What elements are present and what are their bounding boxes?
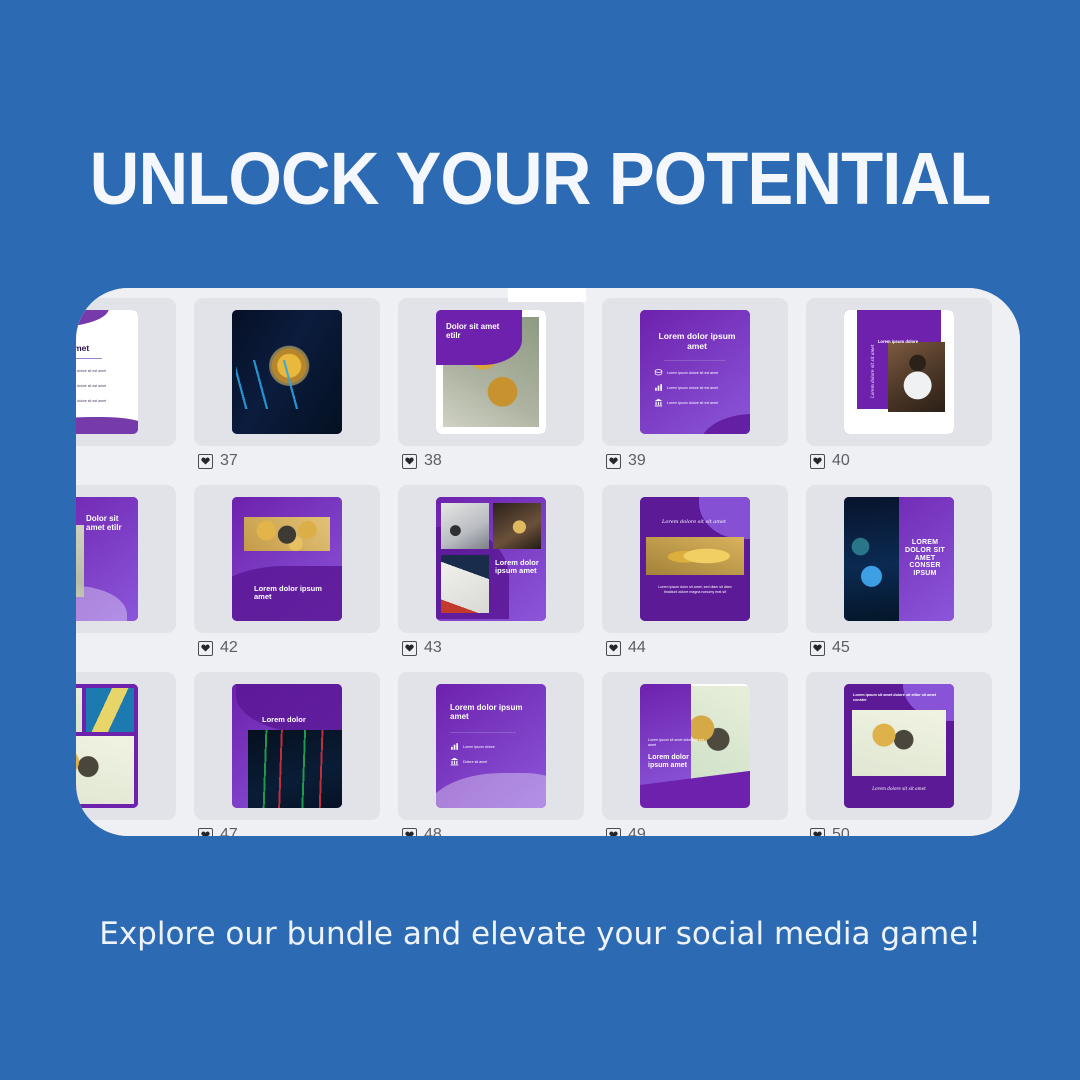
- template-grid: Ipsum amet Lorem ipsum dolore sit est am…: [76, 288, 1020, 836]
- thumb-title: Lorem dolor ipsum amet: [648, 754, 710, 770]
- thumbnail-tile[interactable]: Lorem dolor: [194, 672, 380, 820]
- thumb-title: Lorem dolor: [262, 716, 334, 724]
- design-thumbnail: [76, 684, 138, 808]
- item-number: 43: [424, 639, 442, 657]
- grid-item[interactable]: Lorem dolor 47: [194, 672, 380, 836]
- bullet-text: Lorem ipsum dolore: [463, 745, 495, 749]
- item-number: 39: [628, 452, 646, 470]
- bar-chart-icon: [450, 742, 459, 751]
- bullet-text: Dolore sit amet: [463, 760, 487, 764]
- item-meta: 50: [810, 826, 850, 836]
- item-meta: 48: [402, 826, 442, 836]
- favorite-button[interactable]: [606, 454, 621, 469]
- thumb-photo: [844, 497, 899, 621]
- heart-icon: [609, 831, 618, 836]
- thumb-photo: [441, 555, 489, 613]
- bar-chart-icon: [654, 383, 663, 392]
- favorite-button[interactable]: [606, 641, 621, 656]
- item-meta: 42: [198, 639, 238, 657]
- design-thumbnail: Lorem dolore sit sit amet Lorem ipsum do…: [640, 497, 750, 621]
- item-meta: 43: [402, 639, 442, 657]
- grid-item[interactable]: Ipsum amet Lorem ipsum dolore sit est am…: [76, 298, 176, 485]
- heart-icon: [201, 644, 210, 652]
- thumb-photo: [244, 517, 330, 551]
- item-meta: 44: [606, 639, 646, 657]
- favorite-button[interactable]: [198, 828, 213, 837]
- panel-tab[interactable]: [508, 288, 586, 302]
- heart-icon: [405, 457, 414, 465]
- design-thumbnail: Lorem dolor: [232, 684, 342, 808]
- favorite-button[interactable]: [402, 454, 417, 469]
- bullet-item: Lorem ipsum dolore sit est amet: [76, 366, 106, 375]
- design-thumbnail: Lorem dolor ipsum amet: [232, 497, 342, 621]
- thumbnail-tile[interactable]: Dolor sit amet etilr: [76, 485, 176, 633]
- thumb-title: Lorem dolor ipsum amet: [254, 585, 328, 602]
- thumb-title: LOREM DOLOR SIT AMET CONSER IPSUM: [900, 539, 950, 578]
- item-number: 42: [220, 639, 238, 657]
- item-number: 45: [832, 639, 850, 657]
- thumbnail-tile[interactable]: Lorem dolor ipsum amet: [398, 485, 584, 633]
- grid-item[interactable]: Lorem dolor ipsum amet Lorem ipsum dolor…: [398, 672, 584, 836]
- heart-icon: [201, 831, 210, 836]
- grid-item[interactable]: Lorem ipsum sit amet dolore sit est amet…: [602, 672, 788, 836]
- design-thumbnail: Lorem ipsum sit amet dolore sit etilor s…: [844, 684, 954, 808]
- favorite-button[interactable]: [402, 641, 417, 656]
- thumb-title: Dolor sit amet etilr: [86, 515, 134, 533]
- item-meta: 47: [198, 826, 238, 836]
- bullet-text: Lorem ipsum dolore sit est amet: [76, 369, 106, 373]
- item-number: 48: [424, 826, 442, 836]
- thumb-title: Lorem dolore sit sit amet: [658, 519, 730, 525]
- bullet-text: Lorem ipsum dolore sit est amet: [667, 386, 718, 390]
- grid-row: Dolor sit amet etilr 41: [76, 485, 1020, 672]
- coins-icon: [654, 368, 663, 377]
- heart-icon: [813, 644, 822, 652]
- grid-row: Ipsum amet Lorem ipsum dolore sit est am…: [76, 298, 1020, 485]
- thumbnail-tile[interactable]: Ipsum amet Lorem ipsum dolore sit est am…: [76, 298, 176, 446]
- thumb-title: Lorem ipsum sit amet dolore sit etilor s…: [853, 693, 937, 703]
- favorite-button[interactable]: [810, 641, 825, 656]
- grid-item[interactable]: Lorem dolore sit sit amet Lorem ipsum do…: [602, 485, 788, 672]
- thumbnail-tile[interactable]: [76, 672, 176, 820]
- thumbnail-tile[interactable]: Lorem dolor ipsum amet Lorem ipsum dolor…: [602, 298, 788, 446]
- thumb-title: Ipsum amet: [76, 344, 126, 354]
- grid-item[interactable]: 46: [76, 672, 176, 836]
- thumbnail-tile[interactable]: Lorem ipsum sit amet dolore sit est amet…: [602, 672, 788, 820]
- favorite-button[interactable]: [810, 454, 825, 469]
- bank-icon: [654, 398, 663, 407]
- bullet-item: Lorem ipsum dolore sit est amet: [76, 381, 106, 390]
- item-number: 38: [424, 452, 442, 470]
- thumb-photo: [232, 310, 342, 434]
- heart-icon: [405, 831, 414, 836]
- item-meta: 38: [402, 452, 442, 470]
- grid-item[interactable]: Dolor sit amet etilr 38: [398, 298, 584, 485]
- thumbnail-tile[interactable]: Lorem dolore sit sit amet Lorem ipsum do…: [602, 485, 788, 633]
- favorite-button[interactable]: [402, 828, 417, 837]
- bullet-item: Lorem ipsum dolore sit est amet: [654, 368, 718, 377]
- design-thumbnail: Lorem dolor ipsum amet Lorem ipsum dolor…: [640, 310, 750, 434]
- browser-panel: Ipsum amet Lorem ipsum dolore sit est am…: [76, 288, 1020, 836]
- thumb-photo: [493, 503, 541, 549]
- heart-icon: [609, 457, 618, 465]
- bullet-text: Lorem ipsum dolore sit est amet: [76, 384, 106, 388]
- heart-icon: [405, 644, 414, 652]
- bullet-item: Lorem ipsum dolore: [450, 742, 495, 751]
- thumbnail-tile[interactable]: Lorem ipsum dolore Lorem dolore sit sit …: [806, 298, 992, 446]
- thumbnail-tile[interactable]: LOREM DOLOR SIT AMET CONSER IPSUM: [806, 485, 992, 633]
- bullet-item: Lorem ipsum dolore sit est amet: [76, 396, 106, 405]
- design-thumbnail: Dolor sit amet etilr: [76, 497, 138, 621]
- thumb-title: Lorem dolor ipsum amet: [450, 704, 530, 722]
- thumb-title: Dolor sit amet etilr: [446, 323, 508, 341]
- thumb-title: Lorem dolor ipsum amet: [658, 332, 736, 351]
- page-title: UNLOCK YOUR POTENTIAL: [38, 136, 1042, 221]
- thumb-photo: [888, 342, 945, 411]
- item-meta: 37: [198, 452, 238, 470]
- heart-icon: [201, 457, 210, 465]
- bullet-text: Lorem ipsum dolore sit est amet: [76, 399, 106, 403]
- thumb-photo: [441, 503, 489, 549]
- thumb-photo: [76, 688, 82, 732]
- favorite-button[interactable]: [810, 828, 825, 837]
- thumb-photo: [646, 537, 744, 575]
- bullet-item: Lorem ipsum dolore sit est amet: [654, 398, 718, 407]
- grid-item[interactable]: 37: [194, 298, 380, 485]
- design-thumbnail: Dolor sit amet etilr: [436, 310, 546, 434]
- item-number: 50: [832, 826, 850, 836]
- thumb-photo: [86, 688, 134, 732]
- item-number: 40: [832, 452, 850, 470]
- thumb-photo: [248, 730, 342, 808]
- item-number: 47: [220, 826, 238, 836]
- thumb-vertical-text: Lorem dolore sit sit amet: [870, 344, 875, 398]
- design-thumbnail: Lorem dolor ipsum amet Lorem ipsum dolor…: [436, 684, 546, 808]
- grid-item[interactable]: Lorem ipsum sit amet dolore sit etilor s…: [806, 672, 992, 836]
- grid-item[interactable]: Lorem dolor ipsum amet 42: [194, 485, 380, 672]
- design-thumbnail: Lorem ipsum dolore Lorem dolore sit sit …: [844, 310, 954, 434]
- design-thumbnail: LOREM DOLOR SIT AMET CONSER IPSUM: [844, 497, 954, 621]
- thumb-photo: [76, 736, 134, 804]
- item-number: 49: [628, 826, 646, 836]
- design-thumbnail: Lorem ipsum sit amet dolore sit est amet…: [640, 684, 750, 808]
- page-caption: Explore our bundle and elevate your soci…: [0, 916, 1080, 952]
- item-meta: 49: [606, 826, 646, 836]
- design-thumbnail: [232, 310, 342, 434]
- thumb-photo: [852, 710, 946, 776]
- thumbnail-tile[interactable]: [194, 298, 380, 446]
- design-thumbnail: Lorem dolor ipsum amet: [436, 497, 546, 621]
- heart-icon: [609, 644, 618, 652]
- bullet-item: Dolore sit amet: [450, 757, 495, 766]
- thumb-body: Lorem ipsum dolor sit amet, sed diam sit…: [654, 585, 736, 595]
- thumbnail-tile[interactable]: Lorem dolor ipsum amet: [194, 485, 380, 633]
- design-thumbnail: Ipsum amet Lorem ipsum dolore sit est am…: [76, 310, 138, 434]
- item-number: 44: [628, 639, 646, 657]
- grid-item[interactable]: Lorem dolor ipsum amet 43: [398, 485, 584, 672]
- grid-item[interactable]: LOREM DOLOR SIT AMET CONSER IPSUM 45: [806, 485, 992, 672]
- favorite-button[interactable]: [198, 454, 213, 469]
- grid-item[interactable]: Dolor sit amet etilr 41: [76, 485, 176, 672]
- item-meta: 45: [810, 639, 850, 657]
- thumb-script-text: Lorem dolore sit sit amet: [858, 786, 940, 791]
- heart-icon: [813, 831, 822, 836]
- thumbnail-tile[interactable]: Lorem ipsum sit amet dolore sit etilor s…: [806, 672, 992, 820]
- item-meta: 40: [810, 452, 850, 470]
- favorite-button[interactable]: [198, 641, 213, 656]
- bullet-text: Lorem ipsum dolore sit est amet: [667, 401, 718, 405]
- bullet-item: Lorem ipsum dolore sit est amet: [654, 383, 718, 392]
- thumb-photo: [76, 525, 84, 597]
- thumb-title: Lorem dolor ipsum amet: [495, 559, 539, 576]
- bullet-text: Lorem ipsum dolore sit est amet: [667, 371, 718, 375]
- thumb-body: Lorem ipsum sit amet dolore sit est amet: [648, 738, 708, 748]
- grid-item[interactable]: Lorem ipsum dolore Lorem dolore sit sit …: [806, 298, 992, 485]
- item-number: 37: [220, 452, 238, 470]
- heart-icon: [813, 457, 822, 465]
- thumbnail-tile[interactable]: Lorem dolor ipsum amet Lorem ipsum dolor…: [398, 672, 584, 820]
- favorite-button[interactable]: [606, 828, 621, 837]
- item-meta: 39: [606, 452, 646, 470]
- thumbnail-tile[interactable]: Dolor sit amet etilr: [398, 298, 584, 446]
- grid-item[interactable]: Lorem dolor ipsum amet Lorem ipsum dolor…: [602, 298, 788, 485]
- grid-row: 46 Lorem dolor 47: [76, 672, 1020, 836]
- bank-icon: [450, 757, 459, 766]
